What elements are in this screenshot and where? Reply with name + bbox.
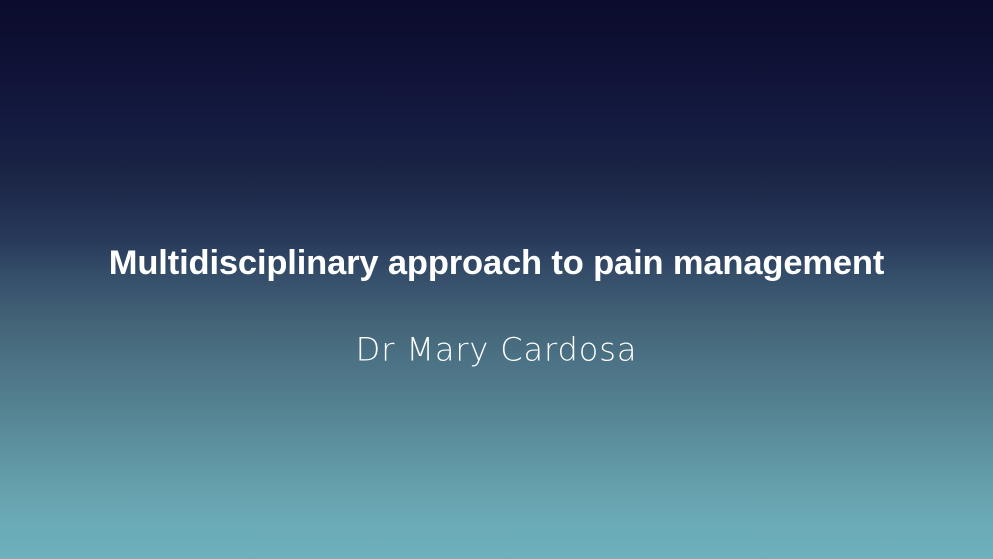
slide-title: Multidisciplinary approach to pain manag… xyxy=(27,244,967,284)
title-slide: Multidisciplinary approach to pain manag… xyxy=(0,0,993,559)
slide-subtitle-presenter: Dr Mary Cardosa xyxy=(27,332,967,369)
slide-text-block: Multidisciplinary approach to pain manag… xyxy=(0,0,993,559)
